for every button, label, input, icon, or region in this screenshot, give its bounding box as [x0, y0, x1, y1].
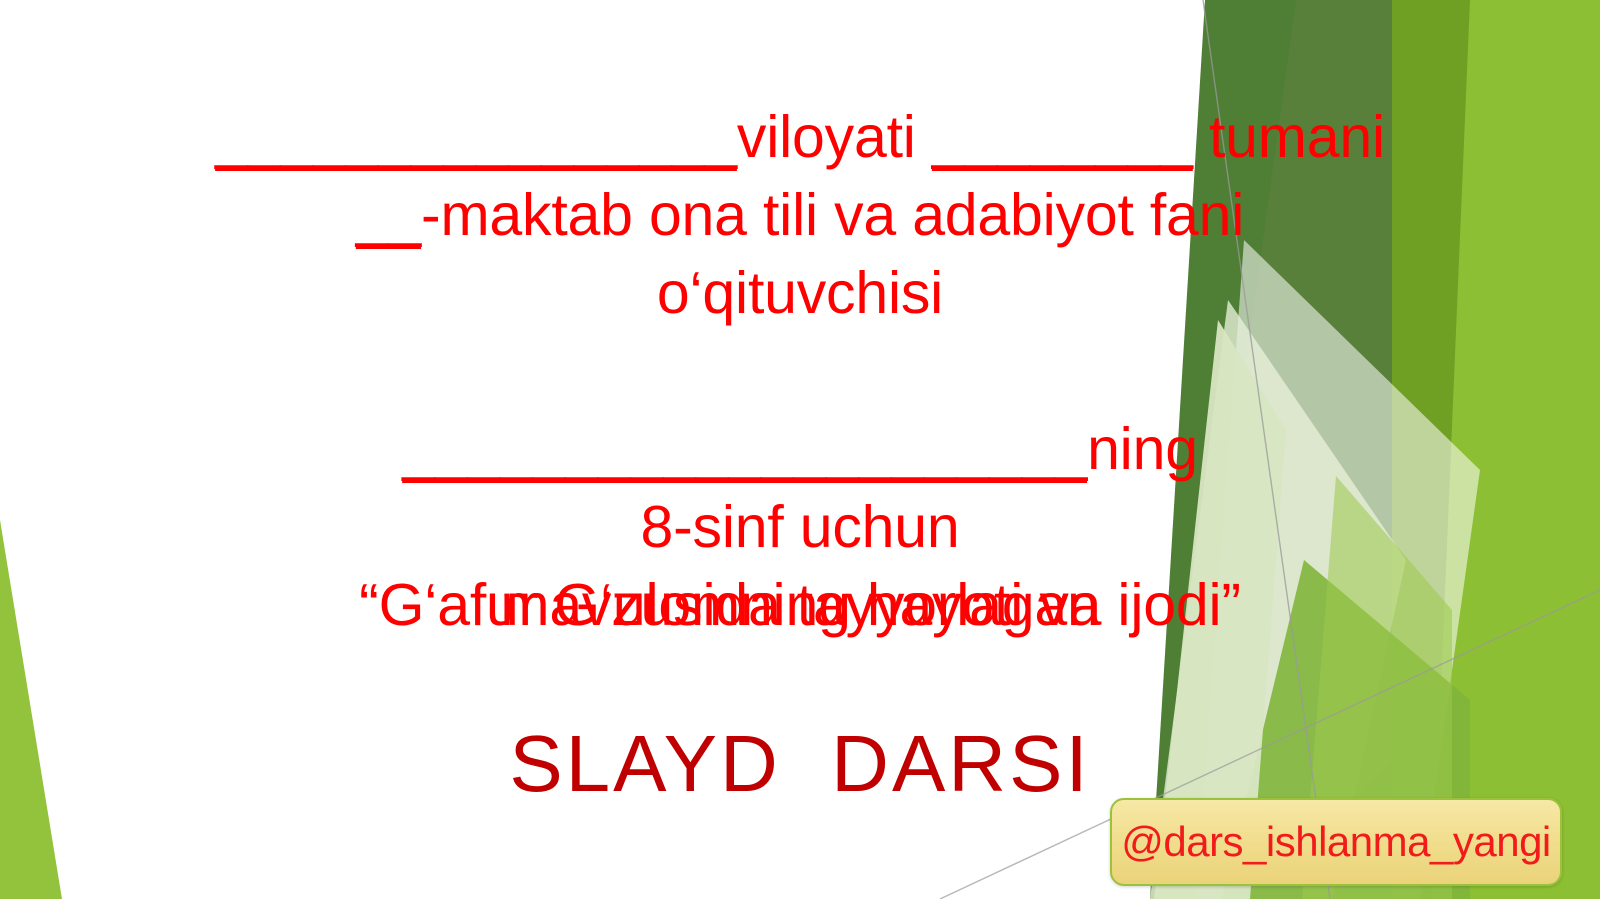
slide-text-block: ________________viloyati ________ tumani… [0, 0, 1600, 288]
text-maktab-fani: -maktab ona tili va adabiyot fani [421, 182, 1244, 248]
text-line-5: _____________________ning [0, 420, 1600, 479]
text-viloyati: viloyati [737, 104, 916, 170]
handle-badge-text: @dars_ishlanma_yangi [1121, 818, 1551, 866]
text-space-1 [916, 104, 932, 170]
text-line-8: mavzusida tayyorlagan [0, 576, 1600, 635]
text-line-1: ________________viloyati ________ tumani [0, 108, 1600, 167]
blank-underscore-maktab: __ [356, 182, 421, 248]
text-line-6: 8-sinf uchun [0, 498, 1600, 557]
text-tumani: tumani [1209, 104, 1385, 170]
handle-badge[interactable]: @dars_ishlanma_yangi [1110, 798, 1562, 886]
blank-underscore-region: ________________ [215, 104, 737, 170]
text-space-2 [1193, 104, 1209, 170]
slide-main-title: SLAYD DARSI [0, 718, 1600, 810]
presentation-slide: ________________viloyati ________ tumani… [0, 0, 1600, 899]
blank-underscore-ning: _____________________ [402, 416, 1087, 482]
blank-underscore-tumani: ________ [932, 104, 1193, 170]
text-line-4-spacer [0, 342, 1600, 401]
text-line-2: __-maktab ona tili va adabiyot fani [0, 186, 1600, 245]
text-ning-suffix: ning [1087, 416, 1198, 482]
text-line-3: o‘qituvchisi [0, 264, 1600, 323]
